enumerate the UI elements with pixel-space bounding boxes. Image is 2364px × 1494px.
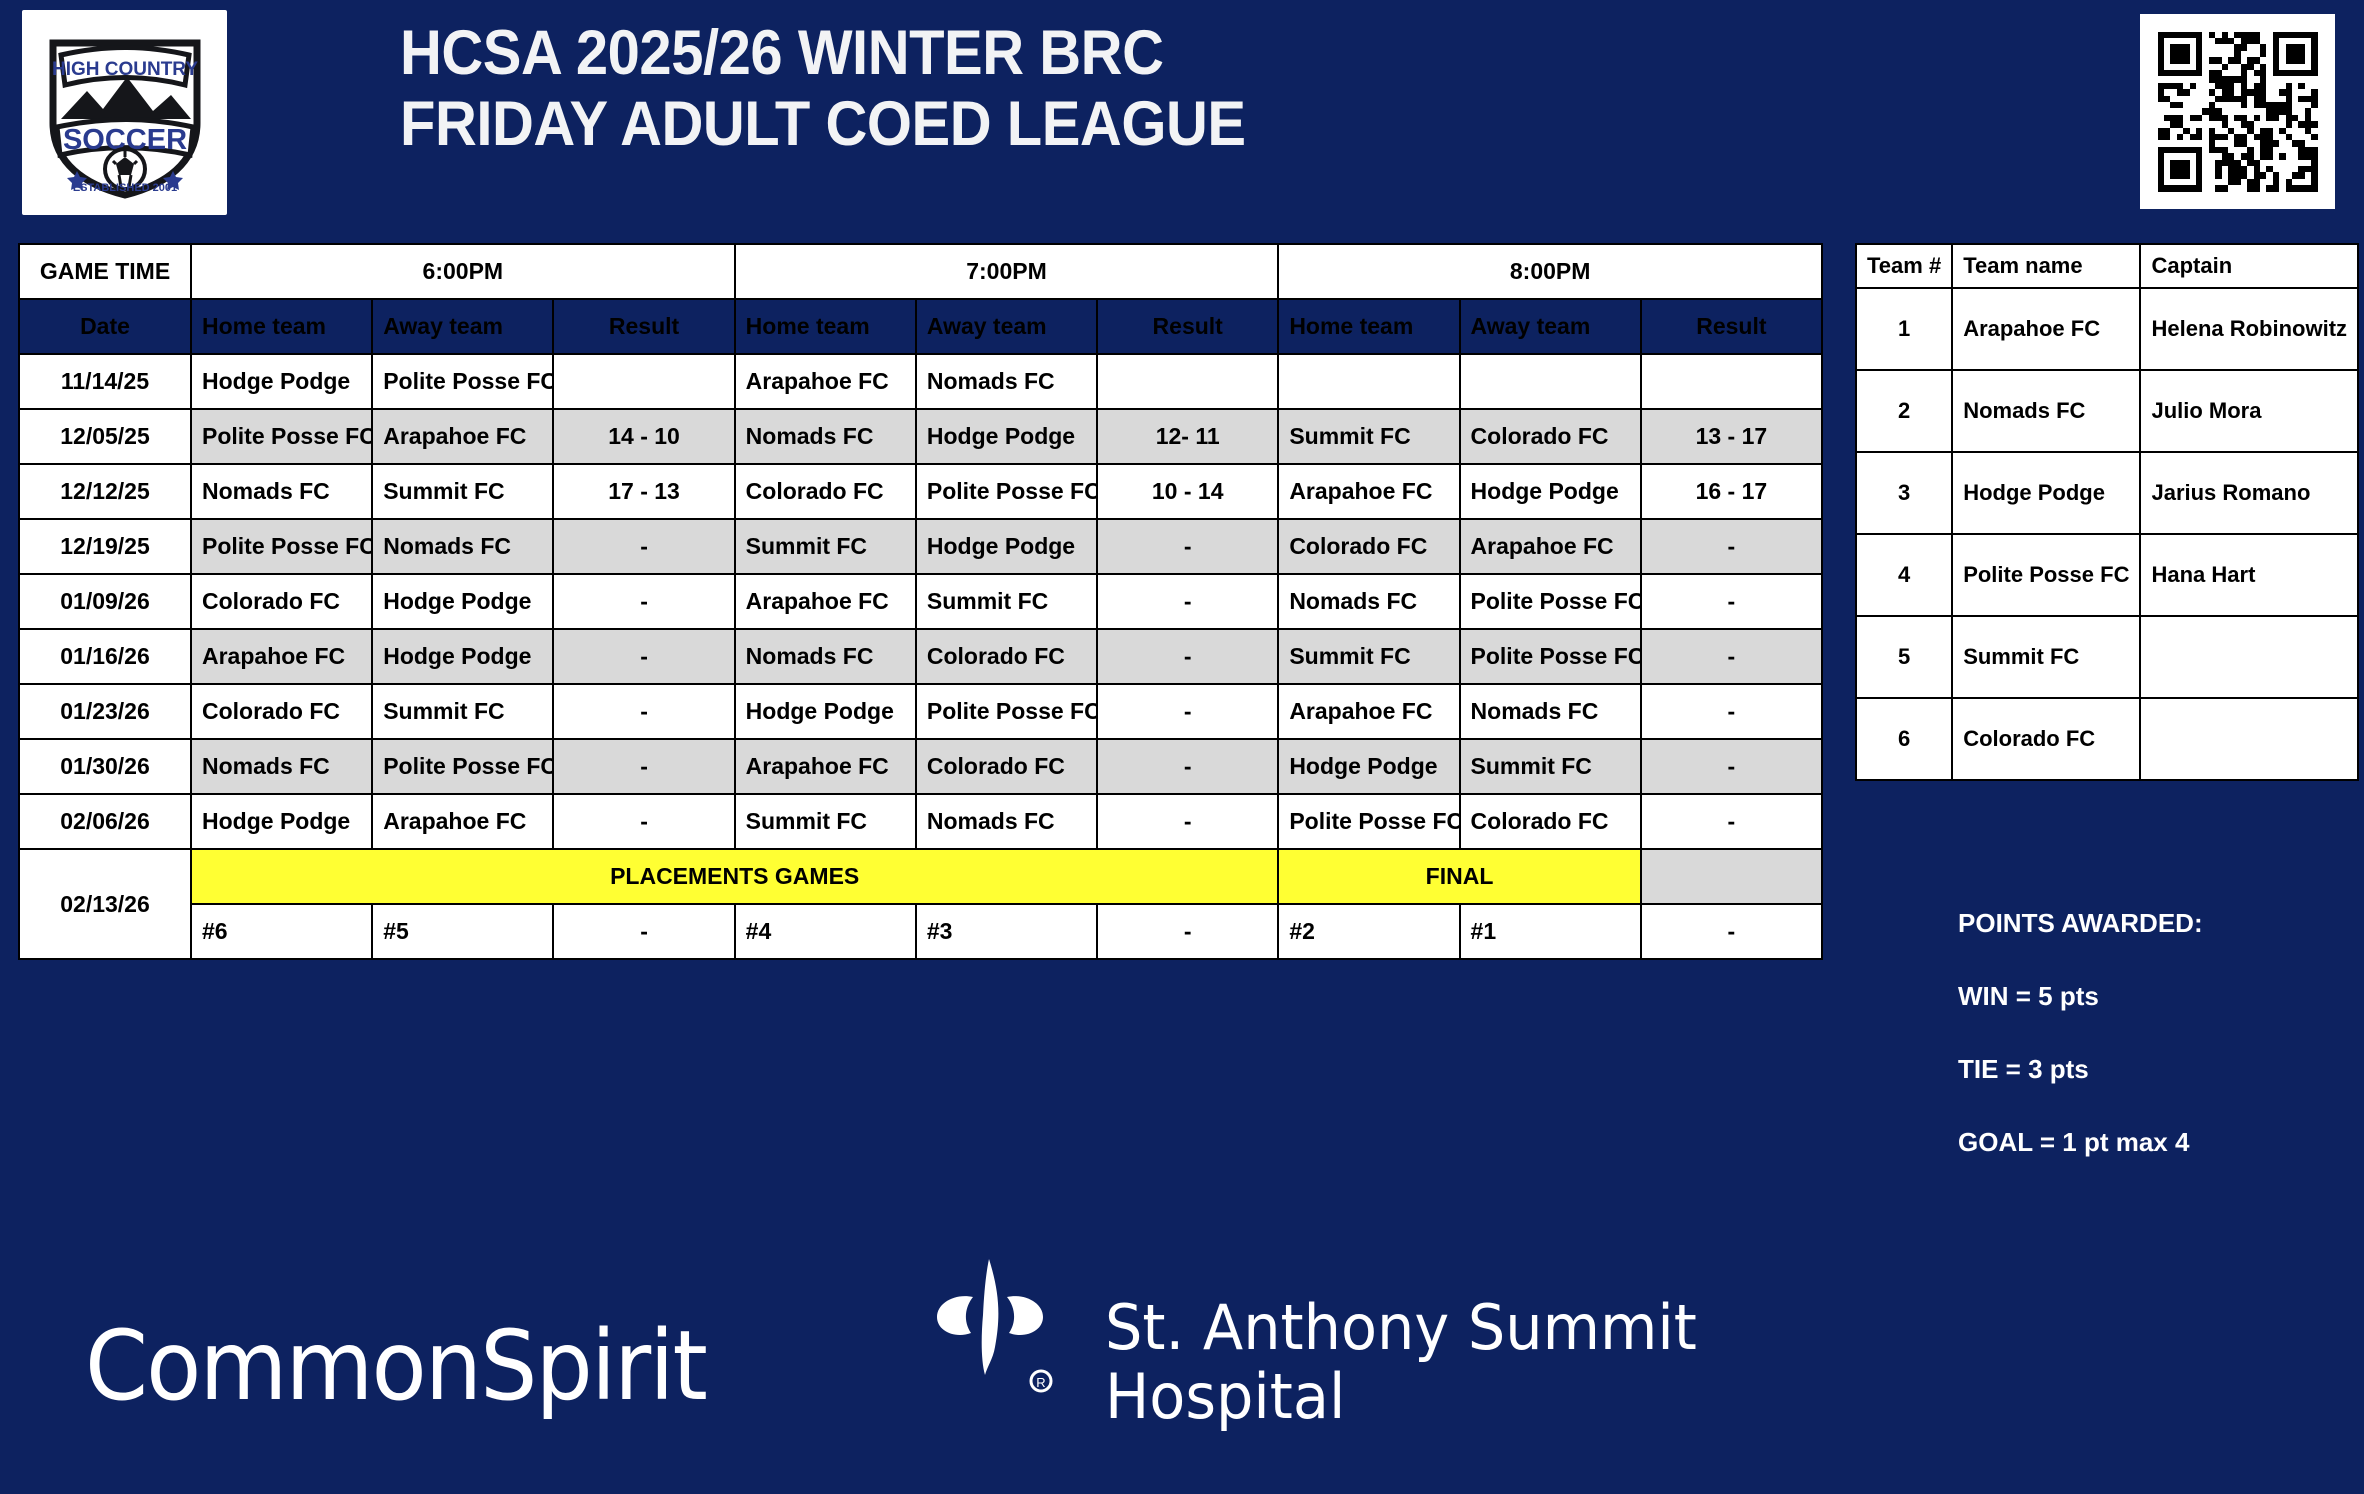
cell-date: 11/14/25 (19, 354, 191, 409)
time-slot-8pm: 8:00PM (1278, 244, 1822, 299)
cell-team-name: Colorado FC (1952, 698, 2140, 780)
cell-away-1: Hodge Podge (372, 574, 553, 629)
cell-date: 02/06/26 (19, 794, 191, 849)
time-slot-7pm: 7:00PM (735, 244, 1279, 299)
cell-home-2: Summit FC (735, 519, 916, 574)
cell-away-1: Polite Posse FC (372, 739, 553, 794)
cell-home-1: Polite Posse FC (191, 409, 372, 464)
cell-seed-away-1: #5 (372, 904, 553, 959)
cell-team-number: 4 (1856, 534, 1952, 616)
col-team-number: Team # (1856, 244, 1952, 288)
team-row: 1Arapahoe FCHelena Robinowitz (1856, 288, 2358, 370)
cell-away-1: Arapahoe FC (372, 794, 553, 849)
cell-result-1: 14 - 10 (553, 409, 734, 464)
cell-away-3: Arapahoe FC (1460, 519, 1641, 574)
cell-home-1: Polite Posse FC (191, 519, 372, 574)
cell-away-1: Nomads FC (372, 519, 553, 574)
cell-away-3: Nomads FC (1460, 684, 1641, 739)
cell-date: 12/05/25 (19, 409, 191, 464)
cell-date: 12/12/25 (19, 464, 191, 519)
cell-team-number: 6 (1856, 698, 1952, 780)
cell-home-1: Hodge Podge (191, 794, 372, 849)
cell-result-2: 10 - 14 (1097, 464, 1278, 519)
cell-result-2: - (1097, 794, 1278, 849)
col-away-2: Away team (916, 299, 1097, 354)
points-awarded-block: POINTS AWARDED: WIN = 5 pts TIE = 3 pts … (1958, 908, 2358, 1158)
cell-result-1: - (553, 739, 734, 794)
team-row: 6Colorado FC (1856, 698, 2358, 780)
cell-away-1: Summit FC (372, 464, 553, 519)
cell-date: 01/23/26 (19, 684, 191, 739)
col-result-3: Result (1641, 299, 1822, 354)
cell-team-number: 2 (1856, 370, 1952, 452)
schedule-row: 01/09/26Colorado FCHodge Podge-Arapahoe … (19, 574, 1822, 629)
team-roster-body: 1Arapahoe FCHelena Robinowitz2Nomads FCJ… (1856, 288, 2358, 780)
cell-home-2: Arapahoe FC (735, 574, 916, 629)
cell-result-2: - (1097, 684, 1278, 739)
page-footer: CommonSpirit R St. Anthony Summit Hospit… (0, 1255, 2364, 1494)
cell-away-2: Summit FC (916, 574, 1097, 629)
schedule-row: 01/16/26Arapahoe FCHodge Podge-Nomads FC… (19, 629, 1822, 684)
cell-home-1: Nomads FC (191, 739, 372, 794)
col-home-3: Home team (1278, 299, 1459, 354)
team-row: 4Polite Posse FCHana Hart (1856, 534, 2358, 616)
cell-home-2: Arapahoe FC (735, 354, 916, 409)
schedule-row: 02/06/26Hodge PodgeArapahoe FC-Summit FC… (19, 794, 1822, 849)
cell-seed-result-3: - (1641, 904, 1822, 959)
time-slot-6pm: 6:00PM (191, 244, 735, 299)
team-row: 5Summit FC (1856, 616, 2358, 698)
cell-away-2: Polite Posse FC (916, 684, 1097, 739)
col-away-3: Away team (1460, 299, 1641, 354)
page-header: HIGH COUNTRY SOCCER ESTABLISHED 2001 HCS… (0, 0, 2364, 232)
cell-seed-home-3: #2 (1278, 904, 1459, 959)
cell-home-1: Arapahoe FC (191, 629, 372, 684)
cell-home-3: Arapahoe FC (1278, 464, 1459, 519)
schedule-row: 12/19/25Polite Posse FCNomads FC-Summit … (19, 519, 1822, 574)
hospital-line-1: St. Anthony Summit (1105, 1293, 1697, 1362)
cell-away-2: Hodge Podge (916, 519, 1097, 574)
points-win: WIN = 5 pts (1958, 981, 2358, 1012)
cell-team-number: 3 (1856, 452, 1952, 534)
hospital-line-2: Hospital (1105, 1362, 1697, 1431)
cell-away-2: Colorado FC (916, 629, 1097, 684)
placements-games-banner: PLACEMENTS GAMES (191, 849, 1278, 904)
cell-away-2: Nomads FC (916, 354, 1097, 409)
cell-team-number: 5 (1856, 616, 1952, 698)
gametime-label: GAME TIME (19, 244, 191, 299)
cell-team-name: Summit FC (1952, 616, 2140, 698)
cell-result-2: - (1097, 574, 1278, 629)
cell-home-3: Nomads FC (1278, 574, 1459, 629)
cell-away-2: Nomads FC (916, 794, 1097, 849)
placement-seed-row: #6#5-#4#3-#2#1- (19, 904, 1822, 959)
col-result-2: Result (1097, 299, 1278, 354)
team-header-row: Team # Team name Captain (1856, 244, 2358, 288)
col-home-1: Home team (191, 299, 372, 354)
schedule-table-container: GAME TIME 6:00PM 7:00PM 8:00PM Date Home… (18, 243, 1823, 960)
team-roster-container: Team # Team name Captain 1Arapahoe FCHel… (1855, 243, 2359, 781)
cell-away-1: Arapahoe FC (372, 409, 553, 464)
cell-seed-home-1: #6 (191, 904, 372, 959)
cell-date: 01/16/26 (19, 629, 191, 684)
high-country-soccer-logo: HIGH COUNTRY SOCCER ESTABLISHED 2001 (22, 10, 227, 215)
cell-team-captain: Hana Hart (2140, 534, 2358, 616)
cell-away-3: Polite Posse FC (1460, 629, 1641, 684)
cell-home-3: Arapahoe FC (1278, 684, 1459, 739)
cell-date: 12/19/25 (19, 519, 191, 574)
cell-result-2 (1097, 354, 1278, 409)
cell-away-2: Polite Posse FC (916, 464, 1097, 519)
commonspirit-logo: CommonSpirit R (85, 1310, 746, 1422)
points-tie: TIE = 3 pts (1958, 1054, 2358, 1085)
cell-team-number: 1 (1856, 288, 1952, 370)
cell-date: 01/09/26 (19, 574, 191, 629)
schedule-row: 01/23/26Colorado FCSummit FC-Hodge Podge… (19, 684, 1822, 739)
cell-team-name: Polite Posse FC (1952, 534, 2140, 616)
cell-home-1: Nomads FC (191, 464, 372, 519)
cell-seed-home-2: #4 (735, 904, 916, 959)
cell-result-1: - (553, 519, 734, 574)
cell-result-2: - (1097, 739, 1278, 794)
cell-seed-away-3: #1 (1460, 904, 1641, 959)
cell-home-1: Colorado FC (191, 684, 372, 739)
commonspirit-flame-icon: R (915, 1255, 1065, 1425)
cell-result-3: - (1641, 519, 1822, 574)
team-row: 3Hodge PodgeJarius Romano (1856, 452, 2358, 534)
cell-home-3: Polite Posse FC (1278, 794, 1459, 849)
col-away-1: Away team (372, 299, 553, 354)
cell-home-2: Hodge Podge (735, 684, 916, 739)
schedule-row: 12/12/25Nomads FCSummit FC17 - 13Colorad… (19, 464, 1822, 519)
cell-away-1: Hodge Podge (372, 629, 553, 684)
final-banner: FINAL (1278, 849, 1640, 904)
cell-away-2: Hodge Podge (916, 409, 1097, 464)
cell-team-captain: Helena Robinowitz (2140, 288, 2358, 370)
cell-placement-date: 02/13/26 (19, 849, 191, 959)
cell-away-1: Summit FC (372, 684, 553, 739)
cell-date: 01/30/26 (19, 739, 191, 794)
cell-seed-away-2: #3 (916, 904, 1097, 959)
col-date: Date (19, 299, 191, 354)
title-line-1: HCSA 2025/26 WINTER BRC (400, 18, 1412, 89)
svg-text:HIGH COUNTRY: HIGH COUNTRY (51, 59, 197, 80)
cell-result-3: - (1641, 629, 1822, 684)
cell-home-2: Arapahoe FC (735, 739, 916, 794)
cell-home-3: Colorado FC (1278, 519, 1459, 574)
schedule-row: 01/30/26Nomads FCPolite Posse FC-Arapaho… (19, 739, 1822, 794)
cell-away-3: Polite Posse FC (1460, 574, 1641, 629)
hospital-name: St. Anthony Summit Hospital (1105, 1293, 1697, 1432)
cell-result-2: 12- 11 (1097, 409, 1278, 464)
cell-result-3: - (1641, 794, 1822, 849)
cell-team-name: Nomads FC (1952, 370, 2140, 452)
col-team-captain: Captain (2140, 244, 2358, 288)
schedule-row: 11/14/25Hodge PodgePolite Posse FCArapah… (19, 354, 1822, 409)
cell-result-3 (1641, 354, 1822, 409)
cell-home-1: Colorado FC (191, 574, 372, 629)
time-header-row: GAME TIME 6:00PM 7:00PM 8:00PM (19, 244, 1822, 299)
final-banner-spacer (1641, 849, 1822, 904)
schedule-row: 12/05/25Polite Posse FCArapahoe FC14 - 1… (19, 409, 1822, 464)
cell-result-1 (553, 354, 734, 409)
cell-team-captain: Julio Mora (2140, 370, 2358, 452)
cell-result-3: 13 - 17 (1641, 409, 1822, 464)
cell-home-2: Nomads FC (735, 409, 916, 464)
cell-result-2: - (1097, 629, 1278, 684)
cell-result-1: - (553, 684, 734, 739)
cell-team-name: Hodge Podge (1952, 452, 2140, 534)
col-result-1: Result (553, 299, 734, 354)
cell-away-2: Colorado FC (916, 739, 1097, 794)
cell-team-captain (2140, 616, 2358, 698)
cell-result-3: - (1641, 684, 1822, 739)
placement-banner-row: 02/13/26PLACEMENTS GAMESFINAL (19, 849, 1822, 904)
cell-home-1: Hodge Podge (191, 354, 372, 409)
points-goal: GOAL = 1 pt max 4 (1958, 1127, 2358, 1158)
schedule-body: 11/14/25Hodge PodgePolite Posse FCArapah… (19, 354, 1822, 959)
cell-away-3: Colorado FC (1460, 794, 1641, 849)
team-roster-table: Team # Team name Captain 1Arapahoe FCHel… (1855, 243, 2359, 781)
cell-home-3: Summit FC (1278, 409, 1459, 464)
cell-result-1: - (553, 794, 734, 849)
points-heading: POINTS AWARDED: (1958, 908, 2358, 939)
cell-away-3: Colorado FC (1460, 409, 1641, 464)
col-home-2: Home team (735, 299, 916, 354)
page-title: HCSA 2025/26 WINTER BRC FRIDAY ADULT COE… (400, 18, 1500, 159)
qr-code-matrix (2158, 32, 2318, 192)
cell-home-3 (1278, 354, 1459, 409)
cell-home-3: Summit FC (1278, 629, 1459, 684)
qr-code[interactable] (2140, 14, 2335, 209)
svg-text:R: R (1036, 1375, 1045, 1390)
cell-home-2: Summit FC (735, 794, 916, 849)
cell-result-3: 16 - 17 (1641, 464, 1822, 519)
column-header-row: Date Home team Away team Result Home tea… (19, 299, 1822, 354)
cell-result-3: - (1641, 574, 1822, 629)
cell-away-3: Hodge Podge (1460, 464, 1641, 519)
cell-seed-result-1: - (553, 904, 734, 959)
schedule-table: GAME TIME 6:00PM 7:00PM 8:00PM Date Home… (18, 243, 1823, 960)
title-line-2: FRIDAY ADULT COED LEAGUE (400, 89, 1412, 160)
cell-seed-result-2: - (1097, 904, 1278, 959)
cell-result-1: - (553, 574, 734, 629)
commonspirit-wordmark: CommonSpirit (85, 1310, 706, 1422)
team-row: 2Nomads FCJulio Mora (1856, 370, 2358, 452)
cell-home-3: Hodge Podge (1278, 739, 1459, 794)
cell-home-2: Colorado FC (735, 464, 916, 519)
col-team-name: Team name (1952, 244, 2140, 288)
svg-text:ESTABLISHED 2001: ESTABLISHED 2001 (72, 182, 176, 194)
cell-away-3: Summit FC (1460, 739, 1641, 794)
cell-team-captain: Jarius Romano (2140, 452, 2358, 534)
soccer-crest-icon: HIGH COUNTRY SOCCER ESTABLISHED 2001 (35, 23, 215, 203)
cell-home-2: Nomads FC (735, 629, 916, 684)
cell-result-2: - (1097, 519, 1278, 574)
cell-away-1: Polite Posse FC (372, 354, 553, 409)
cell-team-captain (2140, 698, 2358, 780)
cell-team-name: Arapahoe FC (1952, 288, 2140, 370)
cell-result-1: - (553, 629, 734, 684)
cell-away-3 (1460, 354, 1641, 409)
cell-result-1: 17 - 13 (553, 464, 734, 519)
cell-result-3: - (1641, 739, 1822, 794)
